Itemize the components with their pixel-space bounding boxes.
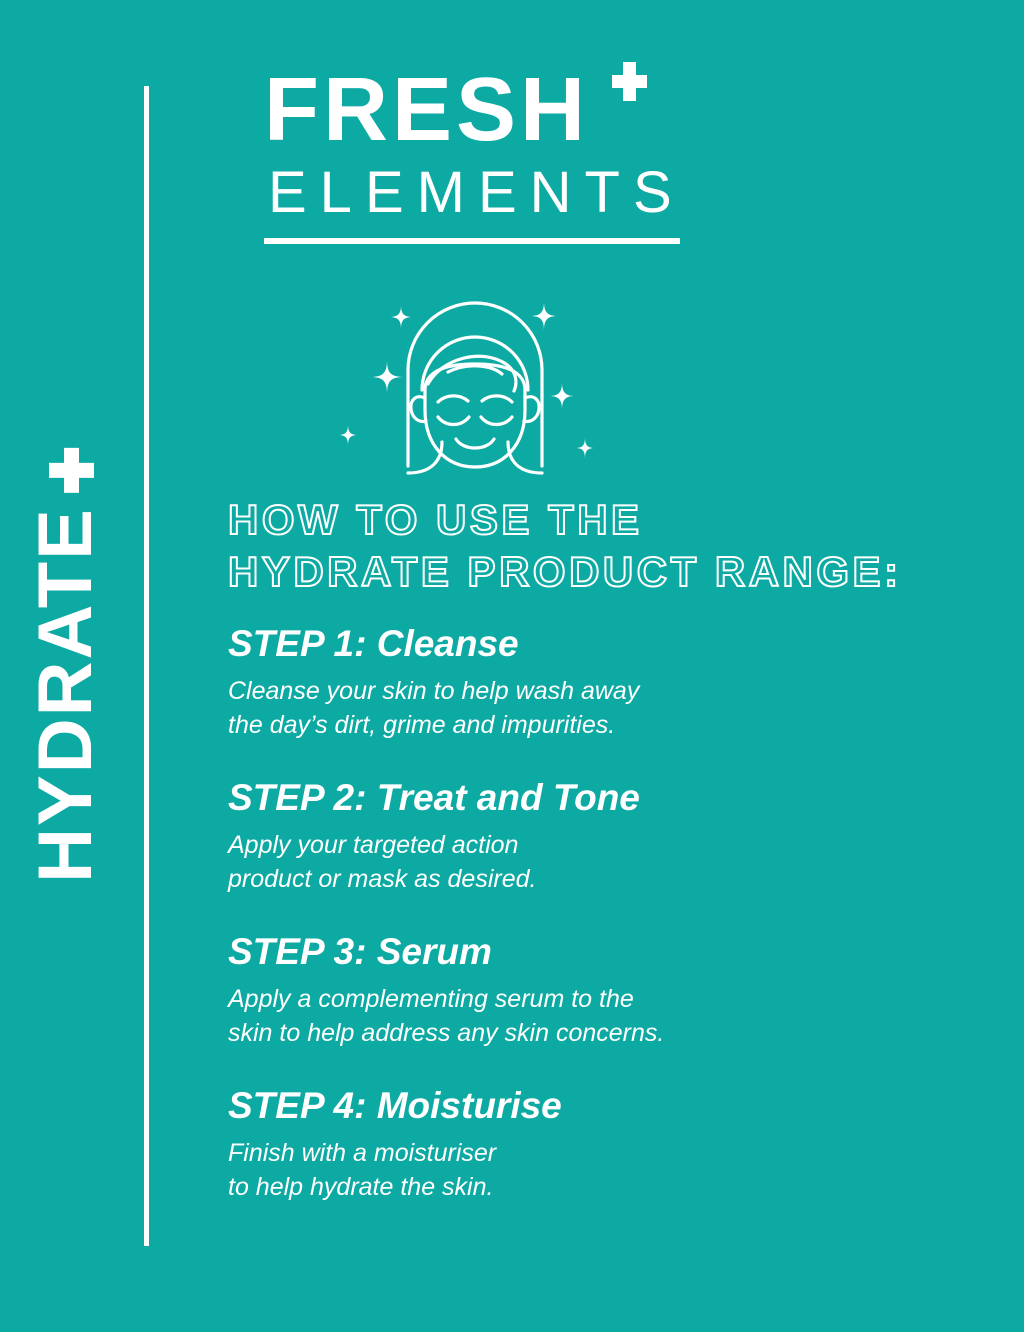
vertical-divider — [144, 86, 149, 1246]
sparkle-icon — [338, 424, 358, 446]
plus-icon — [612, 62, 646, 102]
step-body-line: Finish with a moisturiser — [228, 1136, 998, 1170]
plus-icon — [49, 449, 93, 493]
logo-wordmark: FRESH — [232, 62, 589, 158]
sparkle-icon — [370, 360, 404, 394]
sparkle-icon — [549, 382, 575, 410]
step-body-line: Apply your targeted action — [228, 828, 998, 862]
step-body: Apply a complementing serum to the skin … — [228, 982, 998, 1050]
brand-logo: FRESH ELEMENTS — [232, 62, 972, 244]
sparkling-face-icon — [330, 290, 620, 485]
page-title-line-2: HYDRATE PRODUCT RANGE: — [228, 546, 988, 598]
step-body-line: skin to help address any skin concerns. — [228, 1016, 998, 1050]
side-label-text: HYDRATE — [23, 507, 108, 883]
step-body-line: to help hydrate the skin. — [228, 1170, 998, 1204]
step-title: STEP 3: Serum — [228, 930, 998, 974]
poster-canvas: HYDRATE FRESH ELEMENTS — [0, 0, 1024, 1332]
step-body-line: Cleanse your skin to help wash away — [228, 674, 998, 708]
step-body: Cleanse your skin to help wash away the … — [228, 674, 998, 742]
face-illustration-svg — [330, 290, 620, 485]
step-title: STEP 2: Treat and Tone — [228, 776, 998, 820]
sparkle-icon — [575, 437, 595, 459]
step-item: STEP 3: Serum Apply a complementing seru… — [228, 930, 998, 1050]
logo-underline — [264, 238, 680, 244]
step-title: STEP 1: Cleanse — [228, 622, 998, 666]
step-item: STEP 1: Cleanse Cleanse your skin to hel… — [228, 622, 998, 742]
logo-primary-text: FRESH — [232, 62, 589, 158]
page-title-line-1: HOW TO USE THE — [228, 494, 988, 546]
side-label: HYDRATE — [0, 0, 132, 1332]
step-body: Apply your targeted action product or ma… — [228, 828, 998, 896]
step-body-line: the day’s dirt, grime and impurities. — [228, 708, 998, 742]
step-body-line: product or mask as desired. — [228, 862, 998, 896]
page-title: HOW TO USE THE HYDRATE PRODUCT RANGE: — [228, 494, 988, 598]
step-item: STEP 4: Moisturise Finish with a moistur… — [228, 1084, 998, 1204]
step-title: STEP 4: Moisturise — [228, 1084, 998, 1128]
step-body: Finish with a moisturiser to help hydrat… — [228, 1136, 998, 1204]
step-body-line: Apply a complementing serum to the — [228, 982, 998, 1016]
sparkle-icon — [530, 301, 558, 331]
logo-secondary-text: ELEMENTS — [232, 158, 972, 224]
step-item: STEP 2: Treat and Tone Apply your target… — [228, 776, 998, 896]
steps-list: STEP 1: Cleanse Cleanse your skin to hel… — [228, 622, 998, 1204]
sparkle-icon — [389, 305, 413, 329]
